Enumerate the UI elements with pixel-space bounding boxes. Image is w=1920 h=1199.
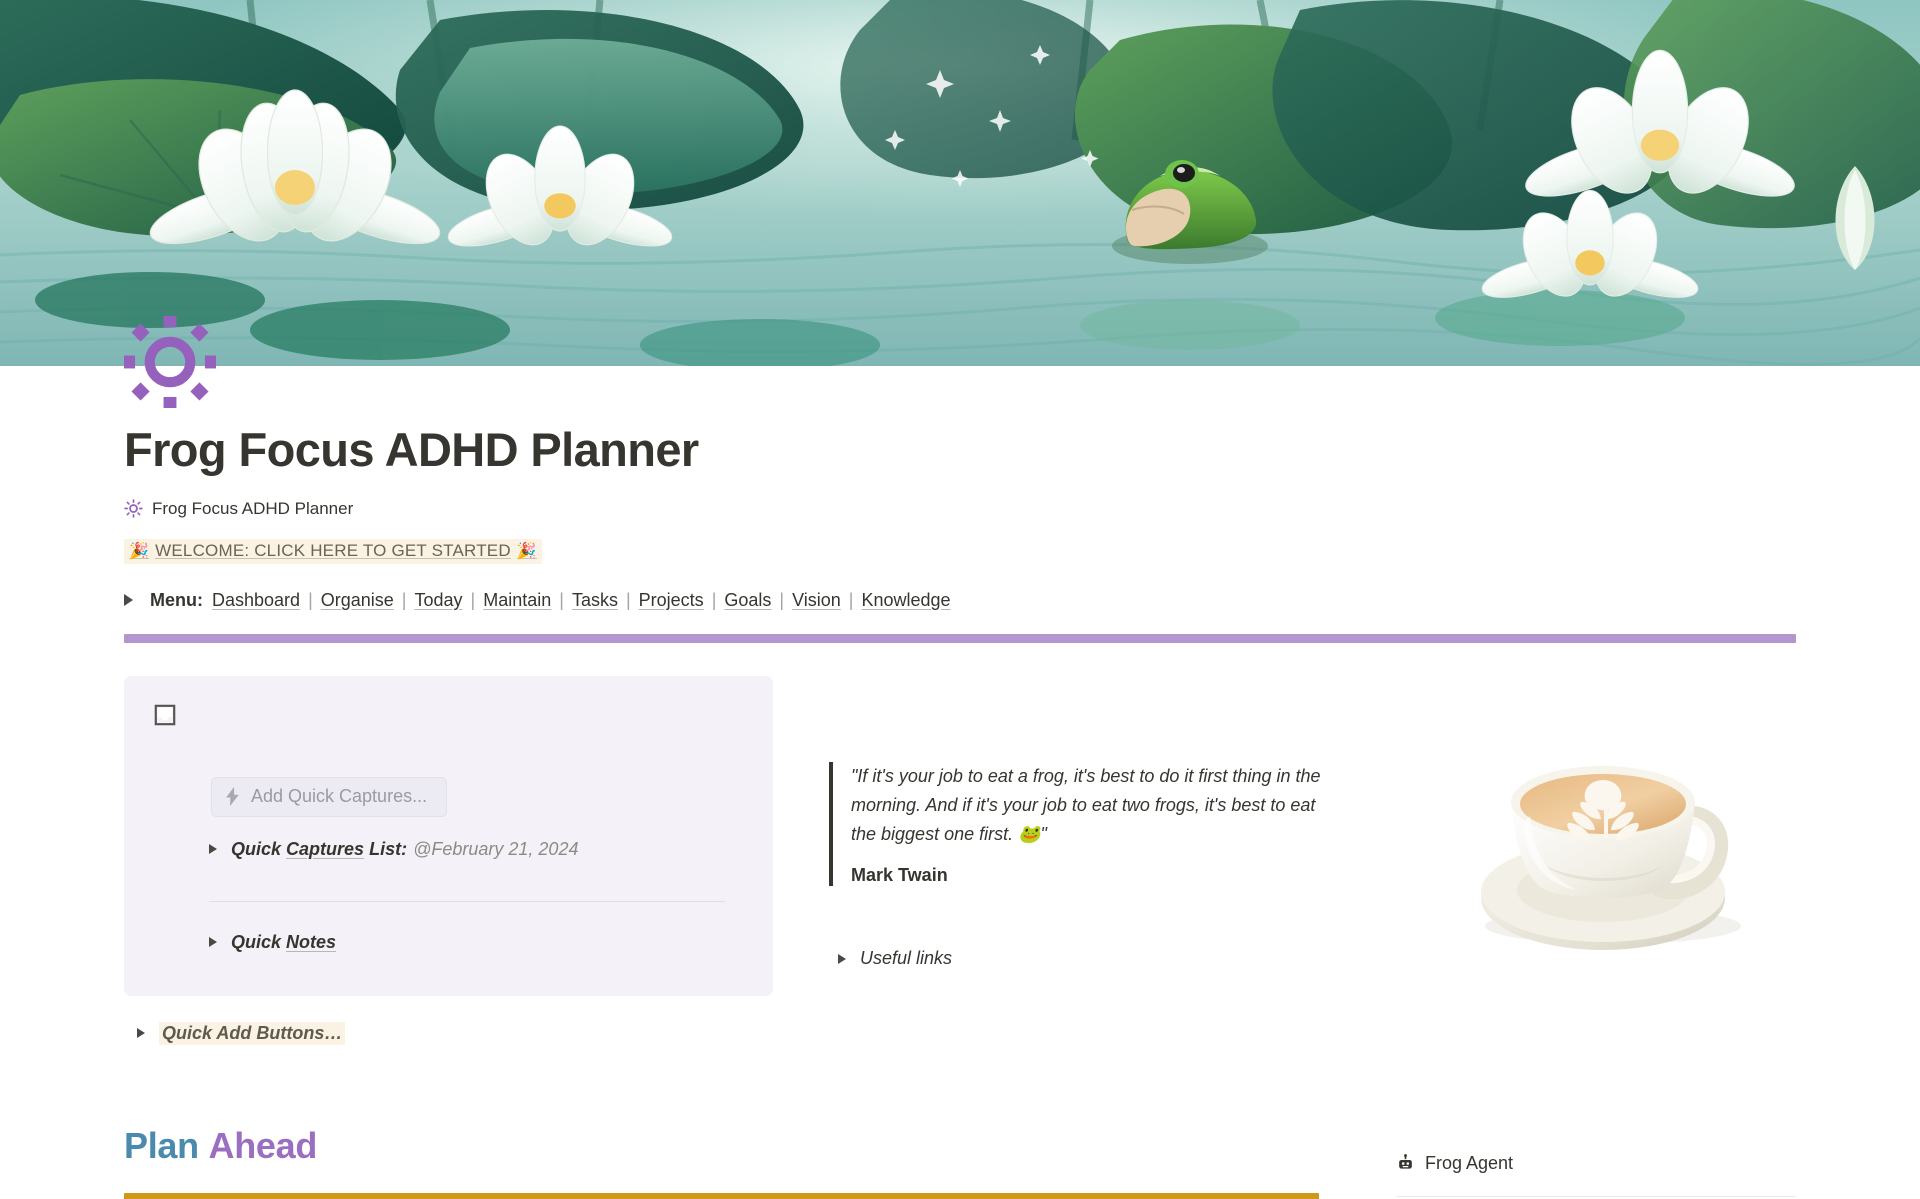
menu-label: Menu: [150, 590, 203, 611]
menu-item-today[interactable]: Today [414, 590, 462, 611]
frog-agent-panel: Frog Agent [1344, 1125, 1796, 1199]
menu-row: Menu: Dashboard | Organise | Today | Mai… [124, 590, 1796, 611]
breadcrumb[interactable]: Frog Focus ADHD Planner [124, 499, 1796, 519]
quote-text: "If it's your job to eat a frog, it's be… [851, 762, 1321, 849]
menu-separator: | [618, 590, 639, 611]
menu-item-dashboard[interactable]: Dashboard [212, 590, 300, 611]
menu-item-organise[interactable]: Organise [321, 590, 394, 611]
plan-ahead-word-ahead: Ahead [209, 1125, 318, 1166]
menu-separator: | [394, 590, 415, 611]
menu-separator: | [300, 590, 321, 611]
menu-separator: | [463, 590, 484, 611]
frog-agent-divider [1396, 1196, 1796, 1197]
frog-agent-label: Frog Agent [1425, 1153, 1513, 1174]
menu-item-tasks[interactable]: Tasks [572, 590, 618, 611]
menu-item-knowledge[interactable]: Knowledge [861, 590, 950, 611]
confetti-icon-right: 🎉 [517, 541, 537, 561]
triangle-right-icon[interactable] [209, 844, 217, 854]
useful-links-label: Useful links [860, 948, 952, 969]
quick-notes-word-quick: Quick [231, 932, 281, 953]
card-divider [209, 901, 725, 902]
quick-captures-date[interactable]: @February 21, 2024 [413, 839, 578, 860]
quick-captures-list-row[interactable]: Quick Captures List: @February 21, 2024 [209, 839, 743, 860]
sun-icon [124, 499, 143, 518]
menu-item-maintain[interactable]: Maintain [483, 590, 551, 611]
purple-divider [124, 634, 1796, 643]
plan-ahead-left: Plan Ahead ▲ Vision [124, 1125, 1344, 1199]
frog-agent-header: Frog Agent [1396, 1153, 1796, 1174]
left-column: Add Quick Captures... Quick Captures Lis… [124, 676, 773, 1045]
top-columns: Add Quick Captures... Quick Captures Lis… [124, 676, 1796, 1045]
middle-column: "If it's your job to eat a frog, it's be… [773, 676, 1410, 969]
lightning-bolt-icon [225, 787, 240, 806]
welcome-callout-link[interactable]: 🎉 WELCOME: CLICK HERE TO GET STARTED 🎉 [124, 539, 542, 564]
breadcrumb-label: Frog Focus ADHD Planner [152, 499, 353, 519]
coffee-cup-image [1410, 676, 1796, 1006]
plan-ahead-section: Plan Ahead ▲ Vision [124, 1125, 1796, 1199]
menu-item-goals[interactable]: Goals [724, 590, 771, 611]
add-quick-captures-button[interactable]: Add Quick Captures... [211, 777, 447, 817]
robot-icon [1396, 1154, 1415, 1173]
menu-separator: | [704, 590, 725, 611]
menu-separator: | [551, 590, 572, 611]
useful-links-row[interactable]: Useful links [838, 948, 1410, 969]
quick-captures-word-captures[interactable]: Captures [286, 839, 364, 860]
triangle-right-icon[interactable] [137, 1028, 145, 1038]
welcome-text: WELCOME: CLICK HERE TO GET STARTED [155, 541, 511, 561]
triangle-right-icon[interactable] [838, 954, 846, 964]
gold-divider [124, 1193, 1319, 1199]
quote-author: Mark Twain [851, 865, 1410, 886]
quick-capture-card: Add Quick Captures... Quick Captures Lis… [124, 676, 773, 996]
triangle-right-icon[interactable] [124, 594, 133, 606]
menu-item-vision[interactable]: Vision [792, 590, 841, 611]
page-cover-banner [0, 0, 1920, 366]
quick-captures-word-list: List: [369, 839, 407, 860]
menu-separator: | [771, 590, 792, 611]
add-quick-captures-label: Add Quick Captures... [251, 786, 427, 807]
page-title: Frog Focus ADHD Planner [124, 366, 1796, 477]
triangle-right-icon[interactable] [209, 937, 217, 947]
page-sun-icon[interactable] [124, 316, 216, 408]
quick-notes-word-notes[interactable]: Notes [286, 932, 336, 953]
quick-add-buttons-label: Quick Add Buttons… [159, 1022, 345, 1045]
confetti-icon-left: 🎉 [129, 541, 149, 561]
quote-block: "If it's your job to eat a frog, it's be… [829, 762, 1410, 886]
quick-add-buttons-row[interactable]: Quick Add Buttons… [137, 1022, 773, 1045]
inbox-tray-icon [152, 702, 178, 728]
plan-ahead-word-plan: Plan [124, 1125, 199, 1166]
menu-separator: | [841, 590, 862, 611]
plan-ahead-heading: Plan Ahead [124, 1125, 1344, 1167]
right-column [1410, 676, 1796, 1006]
quick-captures-word-quick: Quick [231, 839, 281, 860]
quick-notes-row[interactable]: Quick Notes [209, 932, 743, 953]
menu-item-projects[interactable]: Projects [639, 590, 704, 611]
